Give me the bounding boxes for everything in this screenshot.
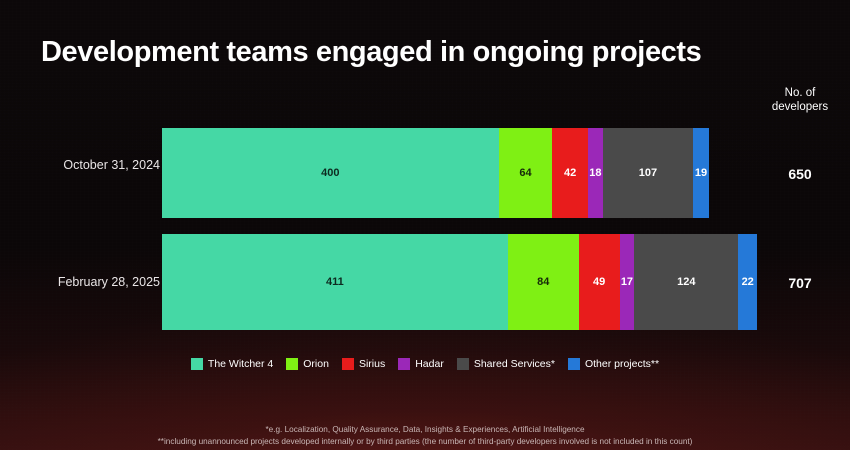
bar-segment[interactable]: 124 [634, 234, 738, 330]
bar-segment-value: 18 [589, 168, 601, 179]
bar-segment[interactable]: 107 [603, 128, 693, 218]
legend-label: Other projects** [585, 358, 659, 370]
legend-label: Sirius [359, 358, 385, 370]
row-total: 650 [752, 166, 848, 182]
legend-label: Shared Services* [474, 358, 555, 370]
footnote-line: **including unannounced projects develop… [0, 436, 850, 448]
legend-label: Hadar [415, 358, 444, 370]
footnote-block: *e.g. Localization, Quality Assurance, D… [0, 424, 850, 447]
page-title: Development teams engaged in ongoing pro… [41, 36, 701, 69]
bar-segment-value: 17 [621, 277, 633, 288]
row-category-label: October 31, 2024 [0, 120, 160, 210]
bar-segment[interactable]: 64 [499, 128, 553, 218]
slide-canvas: Development teams engaged in ongoing pro… [0, 0, 850, 450]
legend-item[interactable]: Shared Services* [457, 358, 555, 370]
legend-label: The Witcher 4 [208, 358, 273, 370]
legend-item[interactable]: Other projects** [568, 358, 659, 370]
chart-legend: The Witcher 4OrionSiriusHadarShared Serv… [0, 358, 850, 370]
chart-row: October 31, 202440064421810719650 [0, 120, 850, 224]
bar-segment-value: 107 [639, 168, 657, 179]
legend-item[interactable]: Hadar [398, 358, 444, 370]
bar-segment[interactable]: 19 [693, 128, 709, 218]
legend-swatch-icon [342, 358, 354, 370]
bar-segment[interactable]: 49 [579, 234, 620, 330]
legend-item[interactable]: The Witcher 4 [191, 358, 273, 370]
bar-segment-value: 84 [537, 277, 549, 288]
legend-item[interactable]: Orion [286, 358, 329, 370]
stacked-bar: 41184491712422 [162, 234, 757, 330]
footnote-line: *e.g. Localization, Quality Assurance, D… [0, 424, 850, 436]
bar-segment-value: 19 [695, 168, 707, 179]
bar-segment-value: 124 [677, 277, 695, 288]
bar-segment-value: 42 [564, 168, 576, 179]
bar-segment[interactable]: 17 [620, 234, 634, 330]
bar-segment[interactable]: 411 [162, 234, 508, 330]
total-column-header: No. of developers [752, 86, 848, 114]
legend-swatch-icon [457, 358, 469, 370]
row-category-label: February 28, 2025 [0, 234, 160, 330]
bar-segment[interactable]: 42 [552, 128, 587, 218]
bar-segment[interactable]: 18 [588, 128, 603, 218]
stacked-bar: 40064421810719 [162, 128, 709, 218]
stacked-bar-chart: October 31, 202440064421810719650Februar… [0, 120, 850, 328]
bar-segment[interactable]: 84 [508, 234, 579, 330]
bar-segment-value: 411 [326, 277, 344, 288]
legend-swatch-icon [286, 358, 298, 370]
chart-row: February 28, 202541184491712422707 [0, 224, 850, 328]
total-column-header-line1: No. of [752, 86, 848, 100]
legend-swatch-icon [568, 358, 580, 370]
legend-item[interactable]: Sirius [342, 358, 385, 370]
bar-segment-value: 49 [593, 277, 605, 288]
bar-segment[interactable]: 400 [162, 128, 499, 218]
legend-label: Orion [303, 358, 329, 370]
legend-swatch-icon [191, 358, 203, 370]
legend-swatch-icon [398, 358, 410, 370]
total-column-header-line2: developers [752, 100, 848, 114]
bar-segment-value: 400 [321, 168, 339, 179]
bar-segment-value: 64 [519, 168, 531, 179]
row-total: 707 [752, 275, 848, 291]
